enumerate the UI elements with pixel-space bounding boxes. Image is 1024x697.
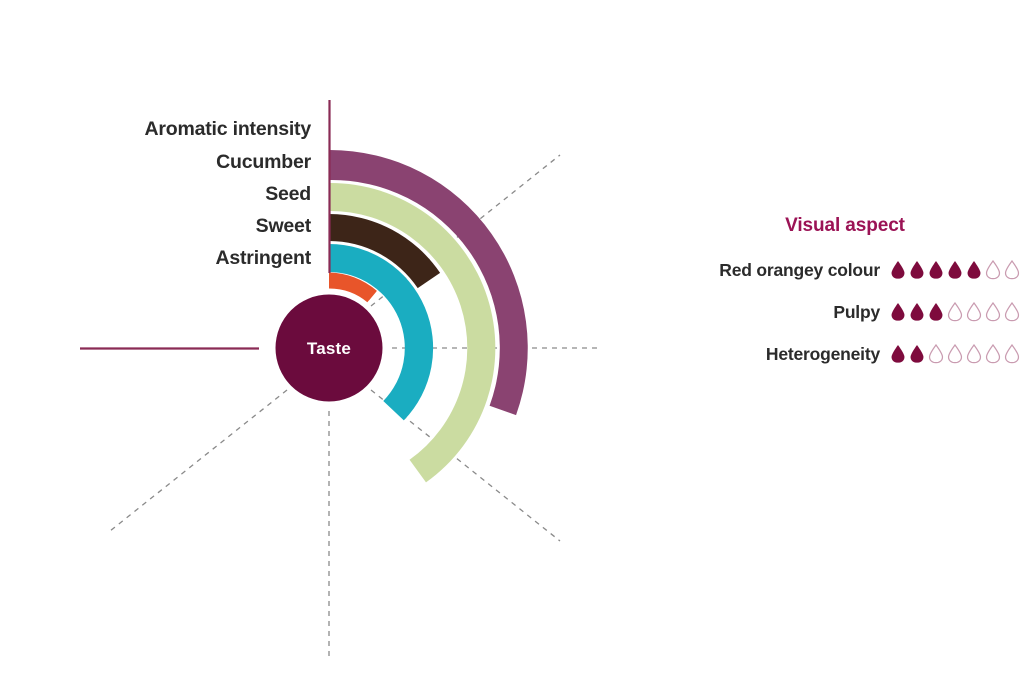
droplet-empty-icon [966,344,982,364]
droplet-empty-icon [1004,344,1020,364]
droplet-empty-icon [1004,302,1020,322]
droplet-empty-icon [966,302,982,322]
droplet-rating [890,260,1024,280]
axis-label-sweet: Sweet [256,215,312,237]
visual-aspect-row: Pulpy [690,301,1024,323]
visual-aspect-row-label: Pulpy [833,302,880,323]
visual-aspect-title: Visual aspect [690,215,1024,237]
droplet-filled-icon [928,260,944,280]
droplet-filled-icon [909,302,925,322]
axis-label-seed: Seed [265,183,311,205]
center-hub-label: Taste [307,339,351,358]
visual-aspect-row: Heterogeneity [690,343,1024,365]
axis-label-aromatic-intensity: Aromatic intensity [144,118,311,140]
droplet-rating [890,302,1024,322]
droplet-empty-icon [1004,260,1020,280]
droplet-empty-icon [947,302,963,322]
droplet-filled-icon [890,260,906,280]
droplet-empty-icon [985,344,1001,364]
axis-label-cucumber: Cucumber [216,151,311,173]
droplet-filled-icon [909,260,925,280]
sensory-wheel-infographic: Taste Aromatic intensity Cucumber Seed S… [0,0,1024,697]
droplet-empty-icon [985,302,1001,322]
droplet-filled-icon [890,344,906,364]
droplet-filled-icon [947,260,963,280]
droplet-empty-icon [985,260,1001,280]
droplet-rating [890,344,1024,364]
axis-label-astringent: Astringent [215,247,311,269]
droplet-filled-icon [909,344,925,364]
droplet-empty-icon [947,344,963,364]
droplet-filled-icon [928,302,944,322]
droplet-empty-icon [928,344,944,364]
gridline-spoke-5 [110,390,287,531]
droplet-filled-icon [890,302,906,322]
visual-aspect-row: Red orangey colour [690,259,1024,281]
visual-aspect-row-label: Heterogeneity [766,344,880,365]
visual-aspect-row-label: Red orangey colour [719,260,880,281]
taste-radial-chart: Taste Aromatic intensity Cucumber Seed S… [0,0,660,697]
droplet-filled-icon [966,260,982,280]
visual-aspect-rows: Red orangey colourPulpyHeterogeneity [690,259,1024,365]
visual-aspect-panel: Visual aspect Red orangey colourPulpyHet… [690,215,1024,385]
